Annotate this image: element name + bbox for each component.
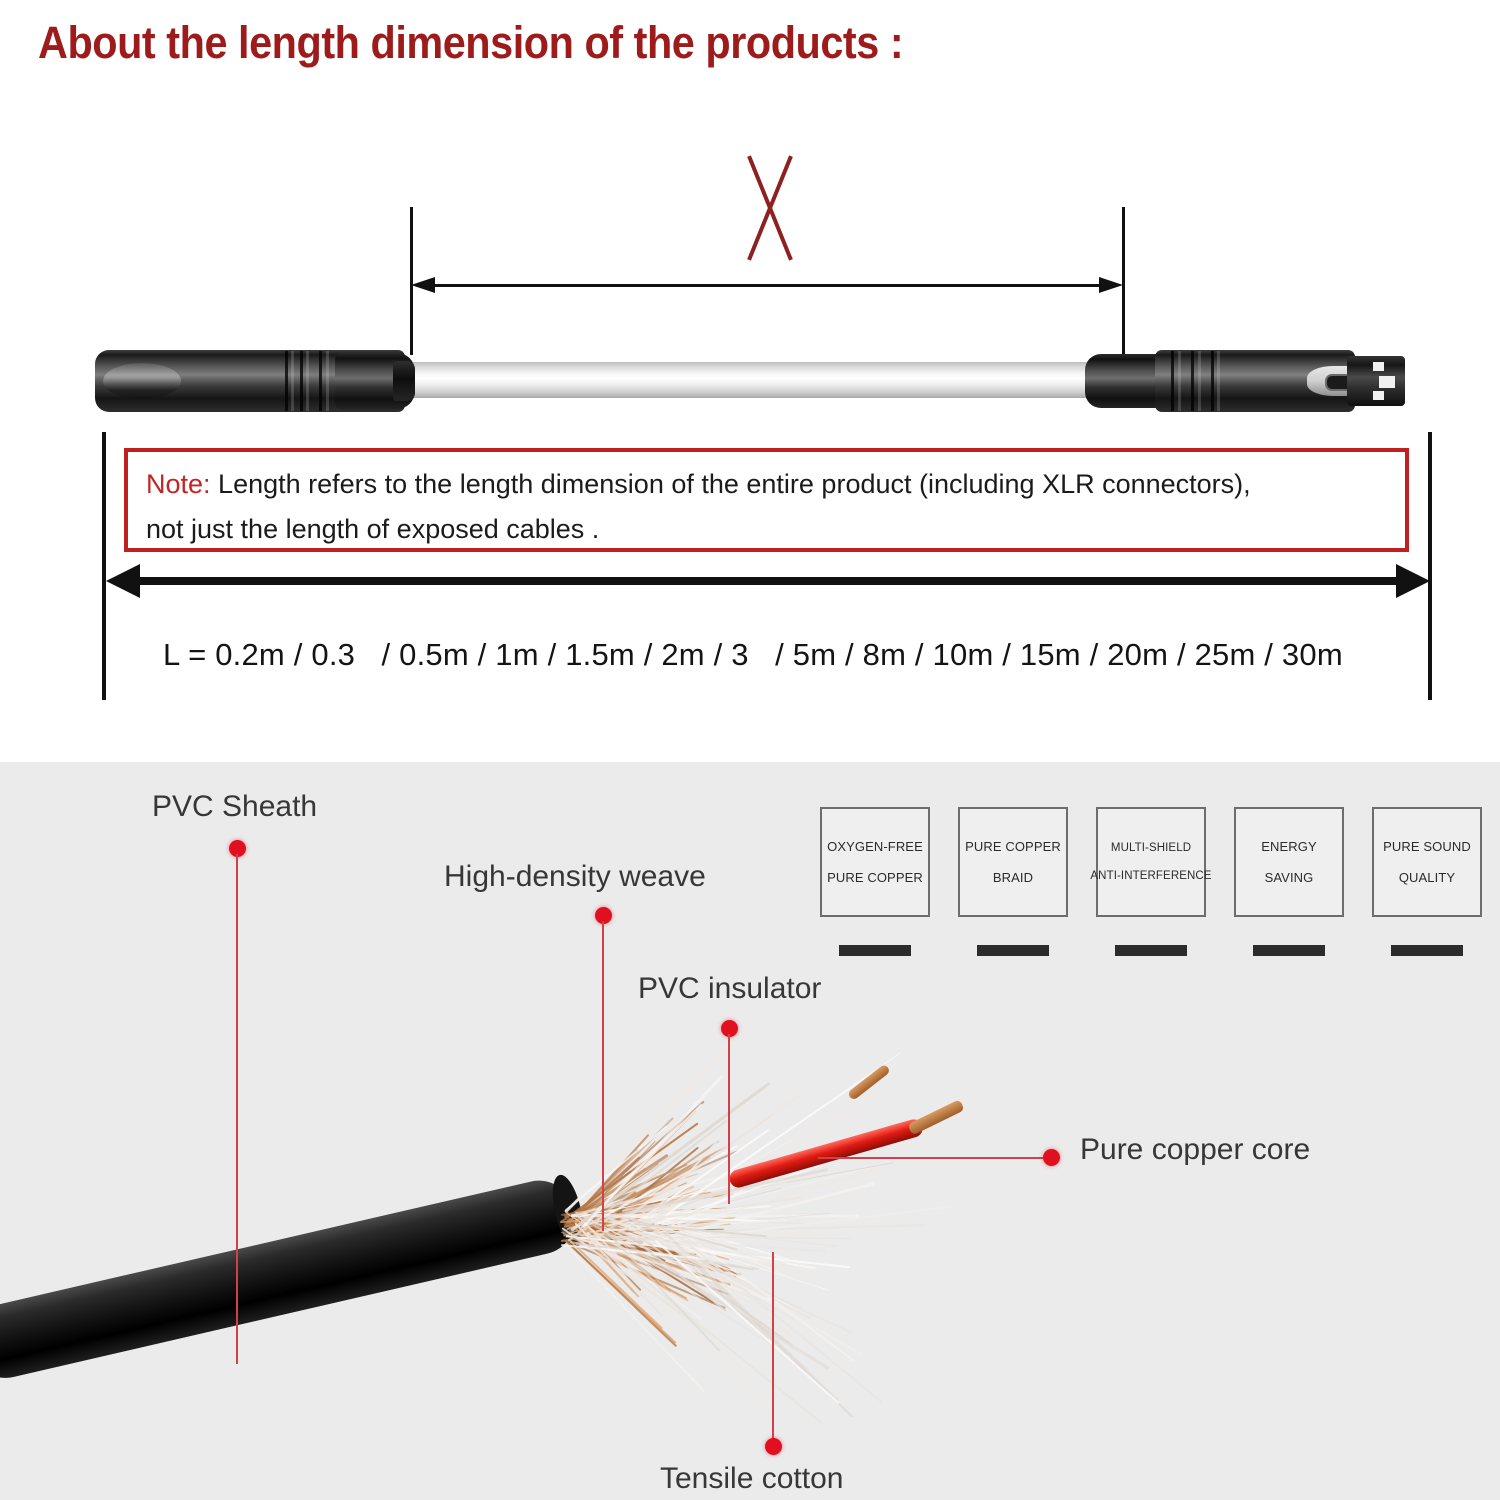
note-line-2: not just the length of exposed cables . — [146, 507, 1389, 552]
callout-label-tensile-cotton: Tensile cotton — [660, 1462, 843, 1496]
callout-leader-tensile-cotton — [772, 1252, 774, 1442]
callout-leader-pure-copper-core — [818, 1157, 1046, 1159]
full-product-dimension-arrow-icon — [106, 564, 1430, 600]
feature-underline-bar — [1253, 945, 1325, 956]
connector-rib — [1211, 351, 1214, 411]
xlr-female-connector — [1085, 350, 1405, 412]
feature-underline-bar — [1115, 945, 1187, 956]
feature-line-1: MULTI-SHIELD — [1111, 842, 1191, 854]
note-callout-box: Note: Length refers to the length dimens… — [124, 448, 1409, 552]
connector-rib — [1178, 351, 1181, 411]
feature-cell: OXYGEN-FREE PURE COPPER — [820, 807, 930, 956]
callout-leader-pvc-sheath — [236, 854, 238, 1364]
feature-underline-bar — [1391, 945, 1463, 956]
feature-line-2: QUALITY — [1399, 870, 1455, 885]
connector-rib — [1198, 351, 1201, 411]
xlr-cable-product-image — [95, 328, 1405, 428]
feature-line-2: BRAID — [993, 870, 1033, 885]
strain-relief — [393, 361, 415, 401]
note-keyword: Note: — [146, 469, 211, 499]
x-cross-icon — [720, 152, 816, 264]
connector-rib — [285, 351, 288, 411]
callout-leader-high-density-weave — [602, 921, 604, 1231]
arrowhead-right-icon — [1396, 564, 1430, 598]
connector-pin — [1373, 362, 1384, 371]
arrow-shaft — [429, 284, 1105, 287]
feature-cell: ENERGY SAVING — [1234, 807, 1344, 956]
feature-cell: PURE SOUND QUALITY — [1372, 807, 1482, 956]
feature-cell: MULTI-SHIELD ANTI-INTERFERENCE — [1096, 807, 1206, 956]
feature-box-energy-saving: ENERGY SAVING — [1234, 807, 1344, 917]
xlr-male-connector — [95, 350, 405, 412]
feature-line-2: SAVING — [1265, 870, 1314, 885]
cable-cutaway-image — [0, 1062, 930, 1500]
connector-rib — [306, 351, 309, 411]
fiber-strand — [632, 1209, 810, 1212]
connector-rib — [319, 351, 322, 411]
pvc-sheath-graphic — [0, 1173, 582, 1385]
feature-box-copper-braid: PURE COPPER BRAID — [958, 807, 1068, 917]
connector-rib — [326, 351, 329, 411]
feature-badge-row: OXYGEN-FREE PURE COPPER PURE COPPER BRAI… — [820, 807, 1482, 956]
feature-line-1: PURE COPPER — [965, 839, 1061, 854]
connector-rib — [1217, 351, 1220, 411]
note-line-1: Note: Length refers to the length dimens… — [146, 462, 1389, 507]
cable-construction-section: OXYGEN-FREE PURE COPPER PURE COPPER BRAI… — [0, 762, 1500, 1500]
feature-line-1: OXYGEN-FREE — [827, 839, 923, 854]
feature-line-1: PURE SOUND — [1383, 839, 1471, 854]
callout-label-pure-copper-core: Pure copper core — [1080, 1133, 1310, 1167]
callout-dot-tensile-cotton — [765, 1438, 782, 1455]
feature-line-2: ANTI-INTERFERENCE — [1090, 870, 1211, 882]
feature-box-multi-shield: MULTI-SHIELD ANTI-INTERFERENCE — [1096, 807, 1206, 917]
feature-line-2: PURE COPPER — [827, 870, 923, 885]
exposed-cable-dimension-arrow-icon — [411, 282, 1123, 288]
connector-rib — [291, 351, 294, 411]
callout-label-pvc-sheath: PVC Sheath — [152, 790, 317, 824]
page-title: About the length dimension of the produc… — [38, 17, 903, 69]
note-text-1: Length refers to the length dimension of… — [211, 469, 1251, 499]
feature-underline-bar — [977, 945, 1049, 956]
exposed-copper-tip-graphic — [907, 1099, 964, 1135]
connector-pin — [1379, 376, 1395, 388]
callout-dot-pure-copper-core — [1043, 1149, 1060, 1166]
connector-rib — [1171, 351, 1174, 411]
feature-line-1: ENERGY — [1261, 839, 1317, 854]
arrowhead-right-icon — [1099, 277, 1123, 293]
arrowhead-left-icon — [106, 564, 140, 598]
callout-label-pvc-insulator: PVC insulator — [638, 972, 821, 1006]
feature-box-oxygen-free: OXYGEN-FREE PURE COPPER — [820, 807, 930, 917]
arrow-shaft — [136, 577, 1400, 585]
infographic-page: About the length dimension of the produc… — [0, 0, 1500, 1500]
length-dimension-section: About the length dimension of the produc… — [0, 0, 1500, 762]
connector-rib — [300, 351, 303, 411]
feature-box-pure-sound: PURE SOUND QUALITY — [1372, 807, 1482, 917]
feature-cell: PURE COPPER BRAID — [958, 807, 1068, 956]
connector-pin — [1373, 391, 1384, 400]
length-options-list: L = 0.2m / 0.3 / 0.5m / 1m / 1.5m / 2m /… — [163, 637, 1343, 673]
callout-label-high-density-weave: High-density weave — [444, 860, 706, 894]
exposed-copper-tip-graphic — [847, 1064, 891, 1101]
connector-rib — [1191, 351, 1194, 411]
callout-leader-pvc-insulator — [728, 1034, 730, 1204]
feature-underline-bar — [839, 945, 911, 956]
connector-nose-highlight — [103, 363, 181, 399]
